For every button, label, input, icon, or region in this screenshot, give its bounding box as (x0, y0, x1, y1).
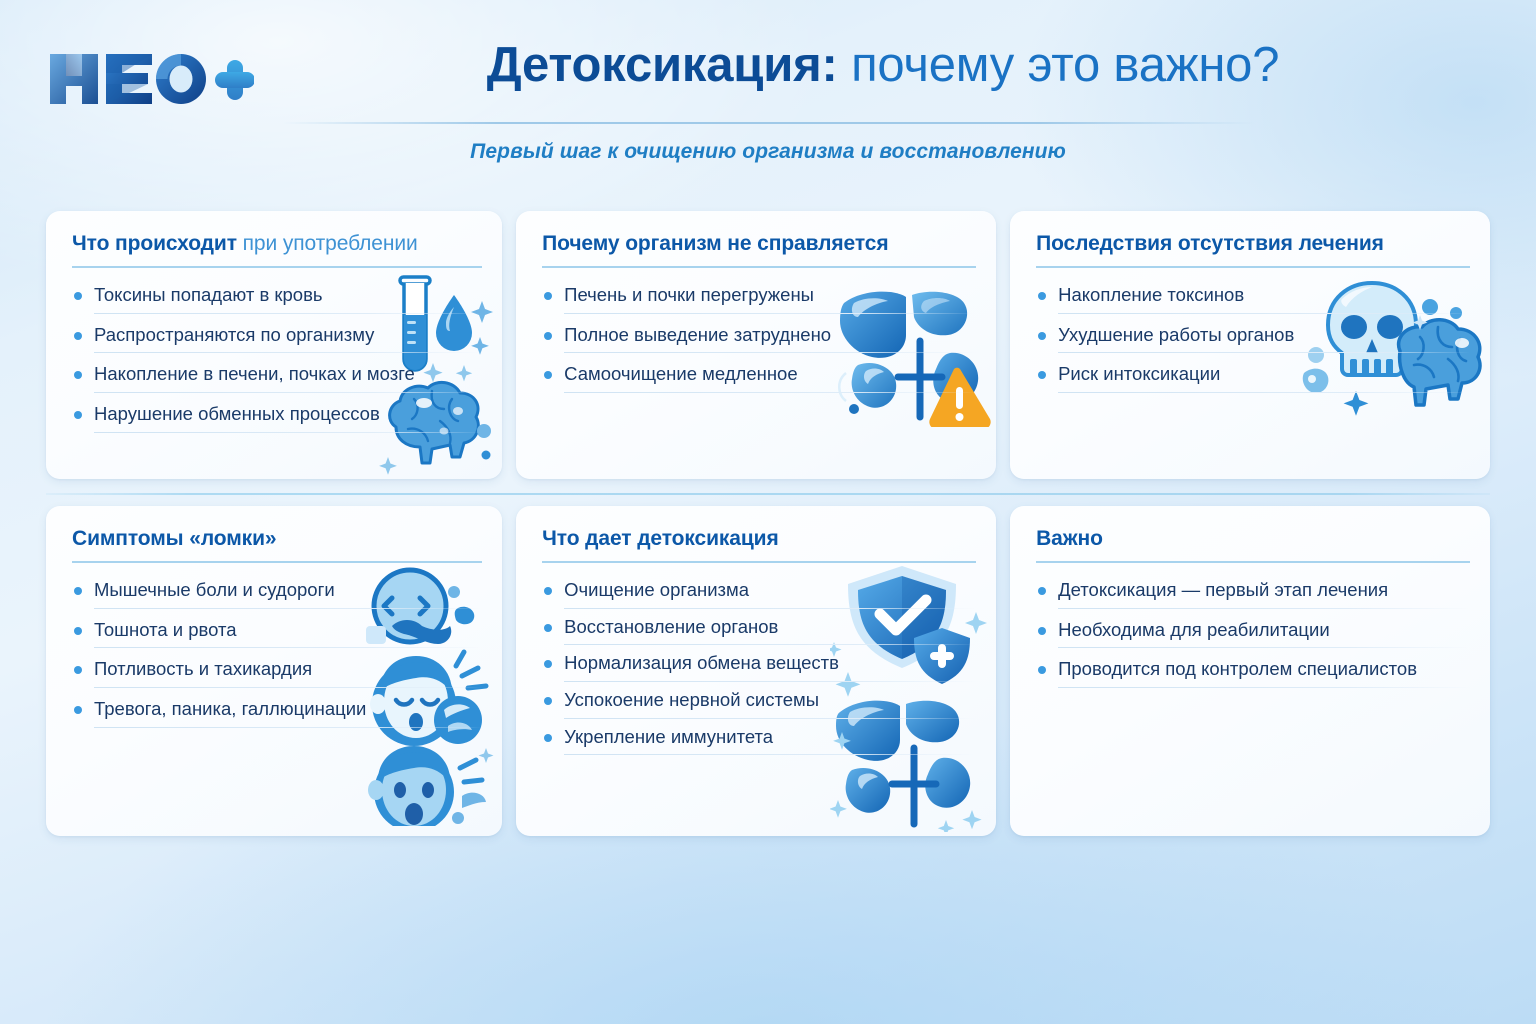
page-title: Детоксикация: почему это важно? (270, 40, 1496, 92)
list-item: Риск интоксикации (1036, 362, 1470, 393)
card-bullet-list: Очищение организма Восстановление органо… (542, 578, 976, 761)
list-item-text: Нормализация обмена веществ (564, 651, 839, 681)
bullet-dot (1038, 292, 1046, 300)
list-item: Ухудшение работы органов (1036, 323, 1470, 354)
card-title-strong: Важно (1036, 527, 1103, 550)
bullet-dot (544, 587, 552, 595)
list-item: Необходима для реабилитации (1036, 618, 1470, 649)
list-item: Полное выведение затруднено (542, 323, 976, 354)
item-underline (94, 687, 482, 688)
title-divider (282, 122, 1254, 124)
item-underline (94, 352, 482, 353)
list-item-text: Восстановление органов (564, 615, 778, 645)
bullet-dot (544, 292, 552, 300)
bullet-dot (1038, 587, 1046, 595)
card-title: Симптомы «ломки» (72, 527, 276, 551)
list-item-text: Тошнота и рвота (94, 618, 237, 648)
header: Детоксикация: почему это важно? Первый ш… (0, 0, 1536, 186)
list-item: Нормализация обмена веществ (542, 651, 976, 682)
card-title-strong: Что происходит (72, 232, 237, 255)
list-item-text: Детоксикация — первый этап лечения (1058, 578, 1388, 608)
item-underline (1058, 352, 1470, 353)
card-title-underline (72, 561, 482, 563)
bullet-dot (544, 734, 552, 742)
list-item-text: Необходима для реабилитации (1058, 618, 1330, 648)
card-title-strong: Что дает детоксикация (542, 527, 779, 550)
card-bullet-list: Токсины попадают в кровь Распространяютс… (72, 283, 482, 442)
item-underline (564, 718, 976, 719)
list-item: Успокоение нервной системы (542, 688, 976, 719)
bullet-dot (544, 624, 552, 632)
card-withdrawal-symptoms[interactable]: Симптомы «ломки» (46, 506, 502, 836)
list-item-text: Очищение организма (564, 578, 749, 608)
card-title-underline (1036, 266, 1470, 268)
card-consequences[interactable]: Последствия отсутствия лечения (1010, 211, 1490, 479)
list-item: Нарушение обменных процессов (72, 402, 482, 433)
bullet-dot (74, 627, 82, 635)
item-underline (1058, 608, 1470, 609)
bullet-dot (74, 371, 82, 379)
bullet-dot (544, 371, 552, 379)
card-title-underline (542, 561, 976, 563)
list-item-text: Полное выведение затруднено (564, 323, 831, 353)
page-title-light: почему это важно? (838, 38, 1280, 92)
list-item: Тошнота и рвота (72, 618, 482, 649)
bullet-dot (544, 332, 552, 340)
card-bullet-list: Накопление токсинов Ухудшение работы орг… (1036, 283, 1470, 402)
list-item: Восстановление органов (542, 615, 976, 646)
bullet-dot (74, 292, 82, 300)
logo-plus-icon (215, 60, 254, 100)
item-underline (1058, 647, 1470, 648)
item-underline (94, 608, 482, 609)
list-item: Проводится под контролем специалистов (1036, 657, 1470, 688)
item-underline (564, 681, 976, 682)
bullet-dot (74, 666, 82, 674)
logo-letter-e (106, 54, 152, 104)
list-item-text: Печень и почки перегружены (564, 283, 814, 313)
list-item-text: Укрепление иммунитета (564, 725, 773, 755)
card-title-underline (542, 266, 976, 268)
list-item: Очищение организма (542, 578, 976, 609)
item-underline (564, 608, 976, 609)
list-item-text: Проводится под контролем специалистов (1058, 657, 1417, 687)
list-item: Самоочищение медленное (542, 362, 976, 393)
card-title-soft: при употреблении (237, 232, 418, 255)
bullet-dot (1038, 332, 1046, 340)
cards-row-bottom: Симптомы «ломки» (46, 506, 1490, 836)
card-bullet-list: Детоксикация — первый этап лечения Необх… (1036, 578, 1470, 697)
list-item-text: Распространяются по организму (94, 323, 374, 353)
brand-logo (44, 42, 254, 114)
card-title-strong: Почему организм не справляется (542, 232, 888, 255)
card-title: Что дает детоксикация (542, 527, 779, 551)
list-item-text: Накопление токсинов (1058, 283, 1244, 313)
list-item-text: Нарушение обменных процессов (94, 402, 380, 432)
card-title-strong: Последствия отсутствия лечения (1036, 232, 1384, 255)
kidneys-icon (846, 758, 971, 813)
bullet-dot (74, 411, 82, 419)
list-item: Накопление токсинов (1036, 283, 1470, 314)
bullet-dot (1038, 666, 1046, 674)
item-underline (1058, 687, 1470, 688)
shocked-face-icon (368, 746, 494, 826)
list-item: Тревога, паника, галлюцинации (72, 697, 482, 728)
item-underline (94, 647, 482, 648)
list-item: Накопление в печени, почках и мозге (72, 362, 482, 393)
list-item-text: Успокоение нервной системы (564, 688, 819, 718)
list-item: Укрепление иммунитета (542, 725, 976, 756)
list-item-text: Накопление в печени, почках и мозге (94, 362, 415, 392)
cards-row-top: Что происходит при употреблении (46, 211, 1490, 479)
list-item-text: Потливость и тахикардия (94, 657, 312, 687)
card-title: Почему организм не справляется (542, 232, 888, 256)
list-item-text: Мышечные боли и судороги (94, 578, 335, 608)
logo-letter-n (50, 54, 98, 104)
logo-letter-o (156, 54, 206, 104)
item-underline (564, 644, 976, 645)
bullet-dot (74, 587, 82, 595)
item-underline (94, 432, 482, 433)
item-underline (564, 754, 976, 755)
list-item: Потливость и тахикардия (72, 657, 482, 688)
list-item-text: Ухудшение работы органов (1058, 323, 1294, 353)
list-item-text: Тревога, паника, галлюцинации (94, 697, 366, 727)
card-title-underline (1036, 561, 1470, 563)
item-underline (94, 313, 482, 314)
list-item-text: Токсины попадают в кровь (94, 283, 323, 313)
bullet-dot (1038, 371, 1046, 379)
card-important[interactable]: Важно Детоксикация — первый этап лечения… (1010, 506, 1490, 836)
list-item-text: Риск интоксикации (1058, 362, 1220, 392)
bullet-dot (1038, 627, 1046, 635)
card-title: Что происходит при употреблении (72, 232, 418, 256)
list-item: Печень и почки перегружены (542, 283, 976, 314)
bullet-dot (74, 332, 82, 340)
list-item: Распространяются по организму (72, 323, 482, 354)
item-underline (1058, 313, 1470, 314)
item-underline (564, 392, 976, 393)
item-underline (1058, 392, 1470, 393)
card-bullet-list: Печень и почки перегружены Полное выведе… (542, 283, 976, 402)
item-underline (94, 392, 482, 393)
item-underline (94, 727, 482, 728)
item-underline (564, 313, 976, 314)
card-why-body-fails[interactable]: Почему организм не справляется (516, 211, 996, 479)
card-title-strong: Симптомы «ломки» (72, 527, 276, 550)
card-title-underline (72, 266, 482, 268)
card-bullet-list: Мышечные боли и судороги Тошнота и рвота… (72, 578, 482, 737)
bullet-dot (544, 660, 552, 668)
list-item: Токсины попадают в кровь (72, 283, 482, 314)
item-underline (564, 352, 976, 353)
bullet-dot (544, 697, 552, 705)
list-item-text: Самоочищение медленное (564, 362, 798, 392)
card-title: Последствия отсутствия лечения (1036, 232, 1384, 256)
card-detox-benefits[interactable]: Что дает детоксикация (516, 506, 996, 836)
bullet-dot (74, 706, 82, 714)
page-title-strong: Детоксикация: (487, 38, 838, 92)
cards-grid: Что происходит при употреблении (46, 211, 1490, 836)
list-item: Детоксикация — первый этап лечения (1036, 578, 1470, 609)
card-title: Важно (1036, 527, 1103, 551)
list-item: Мышечные боли и судороги (72, 578, 482, 609)
page-subtitle: Первый шаг к очищению организма и восста… (0, 140, 1536, 164)
card-what-happens[interactable]: Что происходит при употреблении (46, 211, 502, 479)
